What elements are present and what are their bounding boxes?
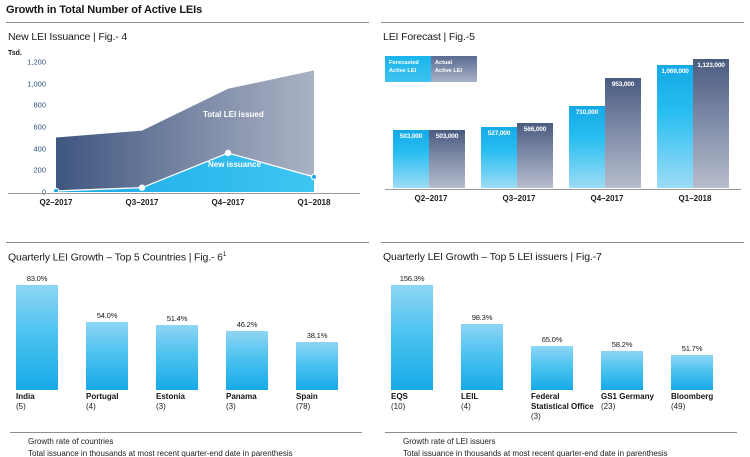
footnote-line: Growth rate of LEI issuers [403,436,668,448]
category-name: EQS [391,392,469,402]
bar-value-label: 58.2% [601,340,643,349]
footnote-marker: 1 [223,251,226,258]
panel-title-fig7: Quarterly LEI Growth – Top 5 LEI issuers… [383,251,602,263]
category-count: (3) [531,412,609,422]
bar-value-label: 710,000 [569,109,605,116]
series-label-new-issuance: New issuance [208,160,261,169]
y-axis-tick-label: 1,200 [12,58,46,67]
panel-title-fig4: New LEI Issuance | Fig.- 4 [8,31,127,43]
panel-title-fig6: Quarterly LEI Growth – Top 5 Countries |… [8,251,226,264]
category-name: GS1 Germany [601,392,679,402]
panel-title-text: Quarterly LEI Growth – Top 5 Countries |… [8,252,223,264]
category-label: Panama(3) [226,392,304,412]
series-label-total-lei-issued: Total LEI issued [203,110,264,119]
bar-country-growth[interactable] [156,325,198,390]
bar-group: 503,000503,000 [393,130,469,188]
legend-label-line2: Active LEI [389,68,427,76]
category-name: Panama [226,392,304,402]
category-label: FederalStatistical Office(3) [531,392,609,422]
bar-issuer-growth[interactable] [671,355,713,390]
x-axis-tick-label: Q1–2018 [298,198,331,207]
bar-column: 98.3% [461,324,503,390]
category-name: Portugal [86,392,164,402]
bar-value-label: 566,000 [517,126,553,133]
bar-value-label: 1,123,000 [693,62,729,69]
bar-value-label: 527,000 [481,130,517,137]
panel-divider [381,22,744,23]
bar-group: 710,000953,000 [569,78,645,188]
category-label: EQS(10) [391,392,469,412]
y-axis-tick-label: 600 [12,123,46,132]
category-label: Bloomberg(49) [671,392,749,412]
legend-item-actual: Actual Active LEI [431,56,477,82]
legend-label-line1: Actual [435,60,473,68]
chart-fig6: 83.0%54.0%51.4%46.2%38.1% [10,276,362,390]
bar-value-label: 503,000 [429,133,465,140]
category-labels-fig7: EQS(10)LEIL(4)FederalStatistical Office(… [385,392,737,432]
bar-forecasted-active-lei[interactable]: 503,000 [393,130,429,188]
category-label: Spain(78) [296,392,374,412]
bar-forecasted-active-lei[interactable]: 710,000 [569,106,605,188]
bar-forecasted-active-lei[interactable]: 527,000 [481,127,517,188]
bar-value-label: 503,000 [393,133,429,140]
bar-group: 1,069,0001,123,000 [657,59,733,188]
data-point-marker [225,150,230,155]
bar-column: 51.7% [671,355,713,390]
footnotes-fig6: Growth rate of countries Total issuance … [28,436,293,457]
y-axis-unit-fig4: Tsd. [8,50,22,57]
bar-issuer-growth[interactable] [461,324,503,390]
legend-label-line1: Forecasted [389,60,427,68]
category-count: (49) [671,402,749,412]
bar-issuer-growth[interactable] [531,346,573,390]
y-axis-tick-label: 800 [12,101,46,110]
area-chart-svg [48,62,360,192]
legend-item-forecasted: Forecasted Active LEI [385,56,431,82]
dashboard-page: Growth in Total Number of Active LEIs Ne… [0,0,750,457]
y-axis-tick-label: 400 [12,144,46,153]
category-name: Federal [531,392,609,402]
footnote-line: Total issuance in thousands at most rece… [28,448,293,457]
chart-fig7: 156.3%98.3%65.0%58.2%51.7% [385,276,737,390]
category-label: Portugal(4) [86,392,164,412]
category-count: (10) [391,402,469,412]
bar-forecasted-active-lei[interactable]: 1,069,000 [657,65,693,188]
area-plot-fig4: Total LEI issuedNew issuance [48,62,360,192]
category-count: (78) [296,402,374,412]
panel-top5-issuers: Quarterly LEI Growth – Top 5 LEI issuers… [381,242,744,454]
bar-group: 527,000566,000 [481,123,557,188]
bar-value-label: 54.0% [86,311,128,320]
bar-value-label: 65.0% [531,335,573,344]
bar-column: 65.0% [531,346,573,390]
bar-value-label: 1,069,000 [657,68,693,75]
footnote-divider [385,432,737,433]
legend-label-line2: Active LEI [435,68,473,76]
panel-new-lei-issuance: New LEI Issuance | Fig.- 4 Tsd. 1,2001,0… [6,22,369,234]
y-axis-tick-label: 200 [12,166,46,175]
panel-title-fig5: LEI Forecast | Fig.-5 [383,31,475,43]
bar-country-growth[interactable] [86,322,128,390]
bar-country-growth[interactable] [226,331,268,390]
x-axis-line-fig5 [385,189,741,190]
category-count: (3) [226,402,304,412]
panel-divider [6,242,369,243]
bar-value-label: 51.4% [156,314,198,323]
data-point-marker [311,174,316,179]
bar-value-label: 953,000 [605,81,641,88]
bar-actual-active-lei[interactable]: 953,000 [605,78,641,188]
bar-actual-active-lei[interactable]: 503,000 [429,130,465,188]
category-name: Estonia [156,392,234,402]
bar-actual-active-lei[interactable]: 566,000 [517,123,553,188]
bar-column: 83.0% [16,285,58,390]
x-axis-tick-label: Q4–2017 [212,198,245,207]
footnote-line: Total issuance in thousands at most rece… [403,448,668,457]
bar-column: 54.0% [86,322,128,390]
category-name: Spain [296,392,374,402]
category-label: GS1 Germany(23) [601,392,679,412]
category-count: (5) [16,402,94,412]
x-axis-tick-label: Q2–2017 [415,194,448,203]
x-axis-tick-label: Q4–2017 [591,194,624,203]
y-axis-tick-label: 0 [12,188,46,197]
x-axis-line-fig4 [8,193,360,194]
y-axis-fig4: 1,2001,0008006004002000 [8,62,46,192]
bar-column: 46.2% [226,331,268,390]
x-axis-labels-fig5: Q2–2017Q3–2017Q4–2017Q1–2018 [385,194,741,210]
category-name: LEIL [461,392,539,402]
category-label: LEIL(4) [461,392,539,412]
bar-column: 156.3% [391,285,433,390]
bar-column: 58.2% [601,351,643,390]
bar-issuer-growth[interactable] [391,285,433,390]
x-axis-labels-fig4: Q2–2017Q3–2017Q4–2017Q1–2018 [8,198,360,214]
panel-top5-countries: Quarterly LEI Growth – Top 5 Countries |… [6,242,369,454]
bar-actual-active-lei[interactable]: 1,123,000 [693,59,729,188]
category-name: Bloomberg [671,392,749,402]
bar-value-label: 38.1% [296,331,338,340]
panel-divider [6,22,369,23]
legend-fig5: Forecasted Active LEI Actual Active LEI [385,56,477,82]
footnote-line: Growth rate of countries [28,436,293,448]
footnotes-fig7: Growth rate of LEI issuers Total issuanc… [403,436,668,457]
panel-divider [381,242,744,243]
bar-value-label: 46.2% [226,320,268,329]
chart-fig4: 1,2001,0008006004002000 Total LEI issued… [8,62,360,192]
category-labels-fig6: India(5)Portugal(4)Estonia(3)Panama(3)Sp… [10,392,362,432]
category-name: India [16,392,94,402]
x-axis-tick-label: Q2–2017 [40,198,73,207]
bar-value-label: 98.3% [461,313,503,322]
x-axis-tick-label: Q1–2018 [679,194,712,203]
bar-value-label: 51.7% [671,344,713,353]
footnote-divider [10,432,362,433]
x-axis-tick-label: Q3–2017 [126,198,159,207]
category-count: (4) [86,402,164,412]
bar-column: 38.1% [296,342,338,390]
x-axis-tick-label: Q3–2017 [503,194,536,203]
category-count: (3) [156,402,234,412]
y-axis-tick-label: 1,000 [12,79,46,88]
bar-value-label: 83.0% [16,274,58,283]
data-point-marker [53,188,58,192]
category-label: India(5) [16,392,94,412]
category-label: Estonia(3) [156,392,234,412]
data-point-marker [139,185,144,190]
category-count: (23) [601,402,679,412]
bar-column: 51.4% [156,325,198,390]
bar-country-growth[interactable] [296,342,338,390]
bar-value-label: 156.3% [391,274,433,283]
category-count: (4) [461,402,539,412]
panel-lei-forecast: LEI Forecast | Fig.-5 503,000503,000527,… [381,22,744,234]
bar-issuer-growth[interactable] [601,351,643,390]
page-title: Growth in Total Number of Active LEIs [6,4,202,16]
bar-country-growth[interactable] [16,285,58,390]
category-name: Statistical Office [531,402,609,412]
